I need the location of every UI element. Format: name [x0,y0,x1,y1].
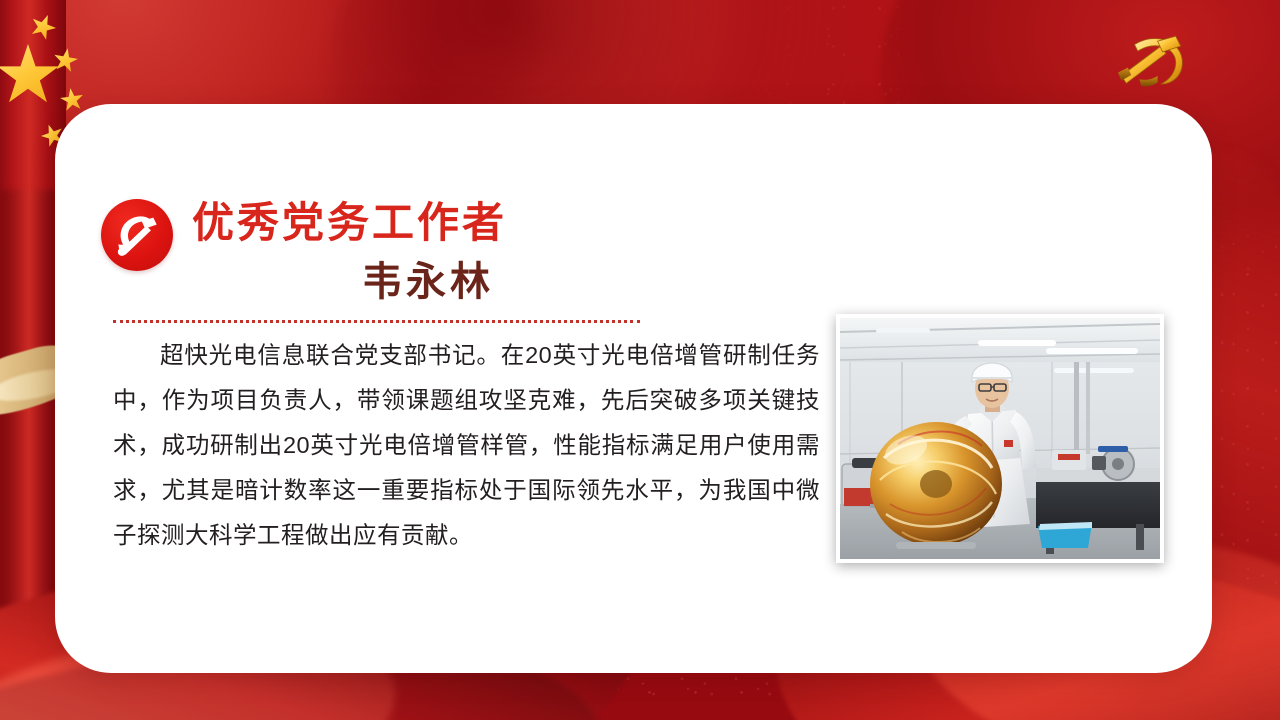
body-paragraph: 超快光电信息联合党支部书记。在20英寸光电倍增管研制任务中，作为项目负责人，带领… [113,333,820,558]
page-title: 优秀党务工作者 [192,203,507,245]
title-divider [113,320,640,323]
hammer-sickle-icon [1108,28,1194,94]
party-emblem-icon [101,199,173,271]
person-name: 韦永林 [362,262,494,302]
slide-canvas: 优秀党务工作者 韦永林 超快光电信息联合党支部书记。在20英寸光电倍增管研制任务… [0,0,1280,720]
portrait-photo [836,314,1164,563]
